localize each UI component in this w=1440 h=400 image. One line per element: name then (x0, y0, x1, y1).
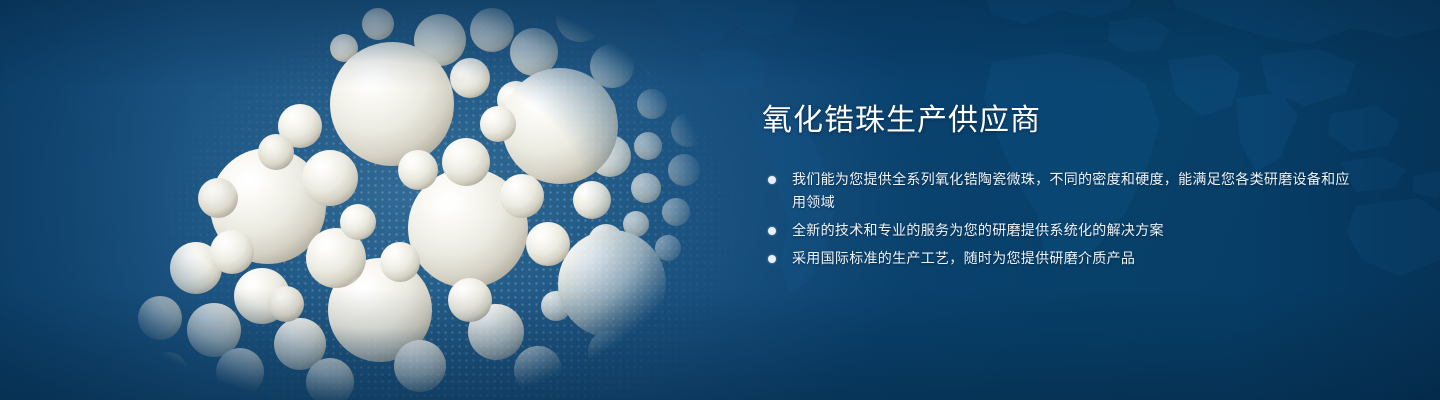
bullet-dot-icon (768, 227, 776, 235)
list-item: 全新的技术和专业的服务为您的研磨提供系统化的解决方案 (760, 219, 1360, 242)
list-item-label: 我们能为您提供全系列氧化锆陶瓷微珠，不同的密度和硬度，能满足您各类研磨设备和应用… (792, 168, 1360, 214)
hero-banner: 氧化锆珠生产供应商 我们能为您提供全系列氧化锆陶瓷微珠，不同的密度和硬度，能满足… (0, 0, 1440, 400)
bullet-dot-icon (768, 176, 776, 184)
list-item-label: 采用国际标准的生产工艺，随时为您提供研磨介质产品 (792, 247, 1360, 270)
bullet-dot-icon (768, 255, 776, 263)
feature-list: 我们能为您提供全系列氧化锆陶瓷微珠，不同的密度和硬度，能满足您各类研磨设备和应用… (760, 168, 1360, 270)
list-item-label: 全新的技术和专业的服务为您的研磨提供系统化的解决方案 (792, 219, 1360, 242)
banner-content: 氧化锆珠生产供应商 我们能为您提供全系列氧化锆陶瓷微珠，不同的密度和硬度，能满足… (760, 104, 1360, 270)
list-item: 我们能为您提供全系列氧化锆陶瓷微珠，不同的密度和硬度，能满足您各类研磨设备和应用… (760, 168, 1360, 214)
page-title: 氧化锆珠生产供应商 (762, 104, 1360, 138)
list-item: 采用国际标准的生产工艺，随时为您提供研磨介质产品 (760, 247, 1360, 270)
